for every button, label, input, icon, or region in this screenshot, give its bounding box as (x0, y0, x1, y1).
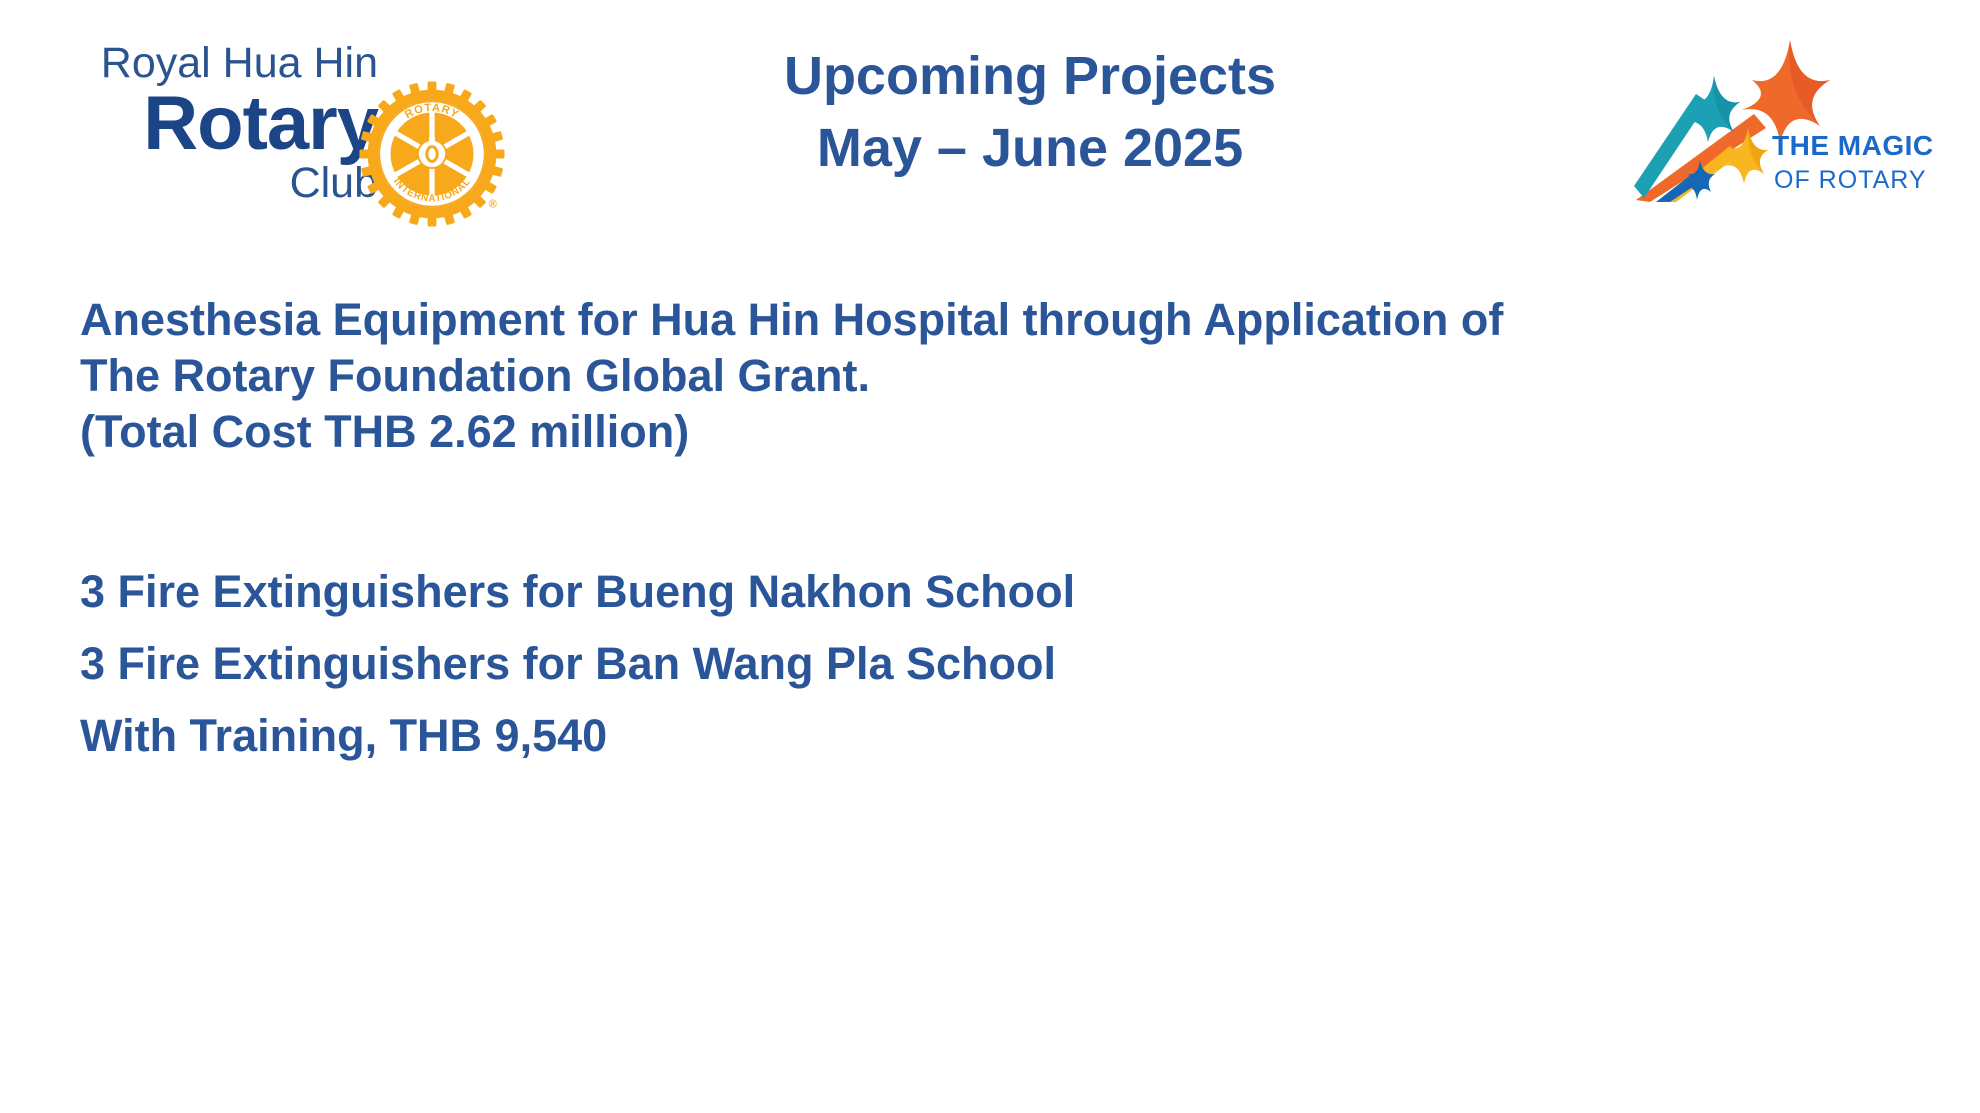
svg-text:®: ® (489, 198, 497, 210)
rotary-wheel-icon: ROTARY INTERNATIONAL ® (358, 80, 506, 228)
paragraph-spacer (80, 460, 1940, 556)
title-line-upcoming-projects: Upcoming Projects (600, 40, 1460, 112)
slide-header: Royal Hua Hin Rotary Club (0, 0, 1980, 260)
club-logo-wordmark: Royal Hua Hin Rotary Club (58, 38, 378, 208)
slide-title: Upcoming Projects May – June 2025 (600, 40, 1460, 184)
magic-logo-line-1: THE MAGIC (1772, 130, 1934, 161)
body-line: The Rotary Foundation Global Grant. (80, 348, 1940, 404)
slide-body: Anesthesia Equipment for Hua Hin Hospita… (80, 292, 1940, 772)
the-magic-of-rotary-logo: THE MAGIC OF ROTARY (1634, 22, 1964, 202)
magic-logo-line-2: OF ROTARY (1774, 166, 1927, 194)
body-line: 3 Fire Extinguishers for Ban Wang Pla Sc… (80, 628, 1940, 700)
club-logo-line-rotary: Rotary (58, 84, 378, 164)
royal-hua-hin-rotary-club-logo: Royal Hua Hin Rotary Club (58, 38, 558, 228)
body-line: With Training, THB 9,540 (80, 700, 1940, 772)
project-paragraph-anesthesia: Anesthesia Equipment for Hua Hin Hospita… (80, 292, 1940, 460)
body-line: 3 Fire Extinguishers for Bueng Nakhon Sc… (80, 556, 1940, 628)
project-paragraph-fire-extinguishers: 3 Fire Extinguishers for Bueng Nakhon Sc… (80, 556, 1940, 772)
body-line: (Total Cost THB 2.62 million) (80, 404, 1940, 460)
title-line-date-range: May – June 2025 (600, 112, 1460, 184)
body-line: Anesthesia Equipment for Hua Hin Hospita… (80, 292, 1940, 348)
